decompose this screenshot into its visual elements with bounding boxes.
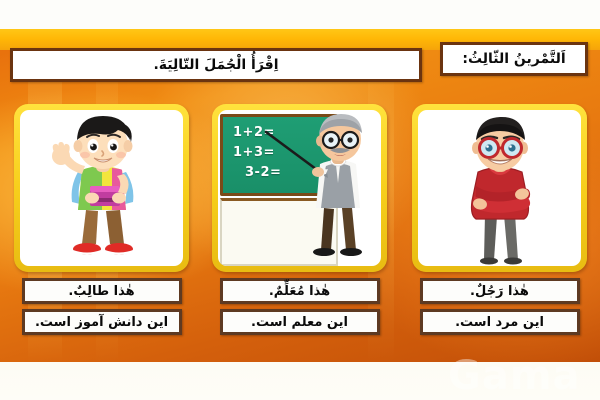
instruction-text: اِقْرَأُ الْجُمَلَ التّالِيَةَ. <box>153 57 278 73</box>
caption-persian-text: این دانش آموز است. <box>35 315 168 330</box>
gama-watermark: Gama <box>448 356 581 396</box>
slide-canvas: Gama اَلتَّمْرينُ الثّالِثُ: اِقْرَأُ ال… <box>0 0 600 400</box>
caption-persian: این دانش آموز است. <box>22 309 182 335</box>
caption-arabic-text: هٰذا مُعَلِّمٌ. <box>269 284 330 299</box>
card-teacher[interactable]: 1+2= 1+3= 3-2= <box>212 104 387 335</box>
picture-frame <box>14 104 189 272</box>
card-student[interactable]: هٰذا طالِبٌ. این دانش آموز است. <box>14 104 189 335</box>
picture-area <box>418 110 581 266</box>
caption-persian-text: این معلم است. <box>251 315 348 330</box>
picture-frame: 1+2= 1+3= 3-2= <box>212 104 387 272</box>
exercise-title-text: اَلتَّمْرينُ الثّالِثُ: <box>462 51 565 67</box>
caption-arabic: هٰذا مُعَلِّمٌ. <box>220 278 380 304</box>
exercise-title-box: اَلتَّمْرينُ الثّالِثُ: <box>440 42 588 76</box>
man-illustration <box>418 110 581 266</box>
caption-arabic-text: هٰذا طالِبٌ. <box>68 284 134 299</box>
caption-arabic: هٰذا رَجُلٌ. <box>420 278 580 304</box>
picture-area: 1+2= 1+3= 3-2= <box>218 110 381 266</box>
top-white-band <box>0 0 600 30</box>
caption-arabic-text: هٰذا رَجُلٌ. <box>470 284 529 299</box>
teacher-illustration <box>218 110 381 266</box>
student-illustration <box>20 110 183 266</box>
caption-arabic: هٰذا طالِبٌ. <box>22 278 182 304</box>
caption-persian-text: این مرد است. <box>455 315 544 330</box>
card-man[interactable]: هٰذا رَجُلٌ. این مرد است. <box>412 104 587 335</box>
picture-frame <box>412 104 587 272</box>
caption-persian: این معلم است. <box>220 309 380 335</box>
caption-persian: این مرد است. <box>420 309 580 335</box>
picture-area <box>20 110 183 266</box>
instruction-box: اِقْرَأُ الْجُمَلَ التّالِيَةَ. <box>10 48 422 82</box>
